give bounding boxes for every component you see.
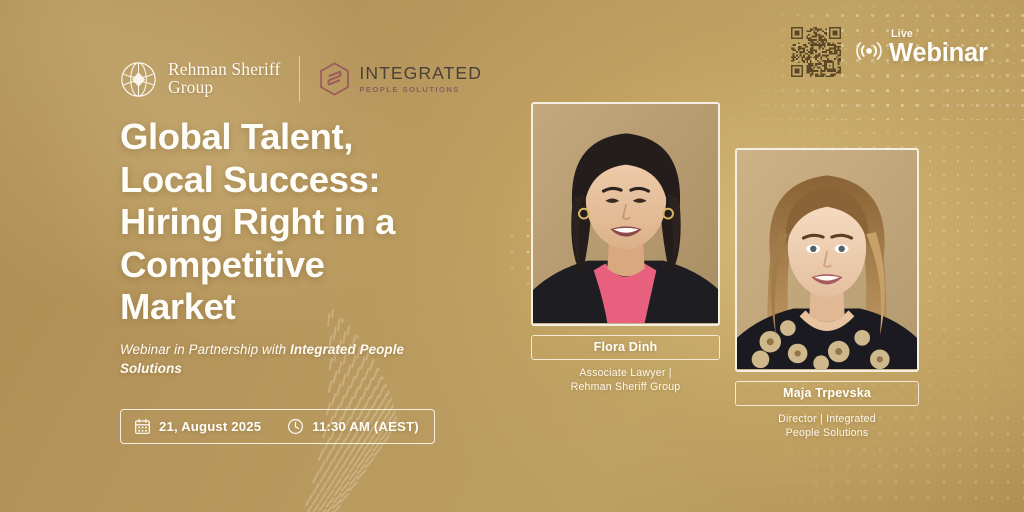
clock-icon — [287, 418, 304, 435]
logo-row: Rehman Sheriff Group INTEGRATED PEOPLE S… — [120, 56, 482, 102]
headshot-maja-trpevska — [737, 150, 917, 369]
speaker-role-2: Director | Integrated People Solutions — [735, 412, 919, 441]
event-datetime-pill: 21, August 2025 11:30 AM (AEST) — [120, 409, 435, 444]
event-time: 11:30 AM (AEST) — [287, 418, 419, 435]
globe-emblem-icon — [120, 61, 157, 98]
logo-rs-line2: Group — [168, 79, 280, 97]
subtitle: Webinar in Partnership with Integrated P… — [120, 340, 450, 379]
headline-line-2: Local Success: — [120, 159, 520, 202]
speaker-role-2-line1: Director | Integrated — [735, 412, 919, 426]
headshot-flora-dinh — [533, 104, 718, 323]
qr-code-icon[interactable] — [791, 27, 841, 77]
calendar-icon — [134, 418, 151, 435]
speaker-card-2: Maja Trpevska Director | Integrated Peop… — [735, 148, 919, 441]
broadcast-icon — [856, 38, 882, 64]
speaker-role-1: Associate Lawyer | Rehman Sheriff Group — [531, 366, 720, 395]
logo-integrated-text: INTEGRATED PEOPLE SOLUTIONS — [359, 65, 482, 94]
headline-line-5: Market — [120, 286, 520, 329]
event-date: 21, August 2025 — [134, 418, 261, 435]
speaker-photo-1 — [531, 102, 720, 326]
speaker-role-1-line2: Rehman Sheriff Group — [531, 380, 720, 394]
speaker-name-1: Flora Dinh — [531, 335, 720, 360]
headline-line-4: Competitive — [120, 244, 520, 287]
headline-line-3: Hiring Right in a — [120, 201, 520, 244]
event-time-text: 11:30 AM (AEST) — [312, 419, 419, 434]
webinar-badge-text: Live Webinar — [856, 38, 988, 66]
webinar-promo-banner: Rehman Sheriff Group INTEGRATED PEOPLE S… — [0, 0, 1024, 512]
logo-integrated: INTEGRATED PEOPLE SOLUTIONS — [319, 62, 482, 96]
subtitle-prefix: Webinar in Partnership with — [120, 342, 290, 357]
speaker-role-2-line2: People Solutions — [735, 426, 919, 440]
speaker-role-1-line1: Associate Lawyer | — [531, 366, 720, 380]
speaker-name-2: Maja Trpevska — [735, 381, 919, 406]
logo-ips-line1: INTEGRATED — [359, 65, 482, 83]
logo-divider — [299, 56, 300, 102]
live-label: Live — [891, 28, 913, 40]
webinar-label: Webinar — [889, 41, 988, 67]
speaker-photo-2 — [735, 148, 919, 372]
event-date-text: 21, August 2025 — [159, 419, 261, 434]
logo-rehman-sheriff: Rehman Sheriff Group — [120, 61, 280, 98]
speaker-card-1: Flora Dinh Associate Lawyer | Rehman She… — [531, 102, 720, 395]
logo-rehman-sheriff-text: Rehman Sheriff Group — [168, 61, 280, 97]
headline-line-1: Global Talent, — [120, 116, 520, 159]
live-webinar-badge: Live Webinar — [791, 27, 988, 77]
hexagon-swirl-icon — [319, 62, 350, 96]
logo-ips-line2: PEOPLE SOLUTIONS — [359, 86, 482, 94]
headline: Global Talent, Local Success: Hiring Rig… — [120, 116, 520, 329]
